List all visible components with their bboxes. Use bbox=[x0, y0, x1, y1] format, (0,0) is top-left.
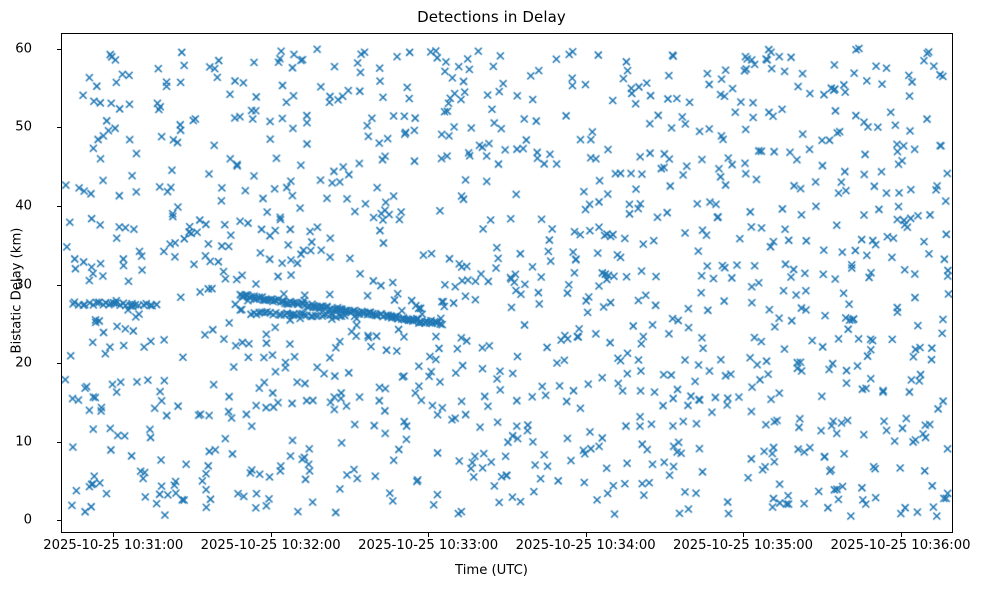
scatter-plot-canvas bbox=[62, 34, 952, 532]
y-axis-tick-mark bbox=[57, 520, 61, 521]
y-axis-tick-label: 0 bbox=[24, 513, 32, 528]
y-axis-label: Bistatic Delay (km) bbox=[10, 41, 25, 541]
x-axis-tick-mark bbox=[743, 533, 744, 537]
x-axis-label: Time (UTC) bbox=[0, 563, 983, 578]
y-axis-tick-mark bbox=[57, 285, 61, 286]
x-axis-tick-mark bbox=[901, 533, 902, 537]
x-axis-tick-mark bbox=[586, 533, 587, 537]
y-axis-tick-mark bbox=[57, 206, 61, 207]
x-axis-tick-label: 2025-10-25 10:31:00 bbox=[43, 538, 183, 553]
x-axis-tick-mark bbox=[428, 533, 429, 537]
page-title: Detections in Delay bbox=[0, 8, 983, 26]
x-axis-tick-label: 2025-10-25 10:34:00 bbox=[516, 538, 656, 553]
x-axis-tick-label: 2025-10-25 10:35:00 bbox=[673, 538, 813, 553]
matplotlib-figure: Detections in Delay 0102030405060 2025-1… bbox=[0, 0, 983, 590]
x-axis-tick-mark bbox=[113, 533, 114, 537]
y-axis-tick-mark bbox=[57, 127, 61, 128]
x-axis-tick-label: 2025-10-25 10:36:00 bbox=[830, 538, 970, 553]
plot-axes bbox=[61, 33, 953, 533]
y-axis-tick-mark bbox=[57, 442, 61, 443]
x-axis-tick-label: 2025-10-25 10:32:00 bbox=[201, 538, 341, 553]
y-axis-tick-mark bbox=[57, 363, 61, 364]
y-axis-tick-mark bbox=[57, 49, 61, 50]
x-axis-tick-mark bbox=[271, 533, 272, 537]
x-axis-tick-label: 2025-10-25 10:33:00 bbox=[358, 538, 498, 553]
